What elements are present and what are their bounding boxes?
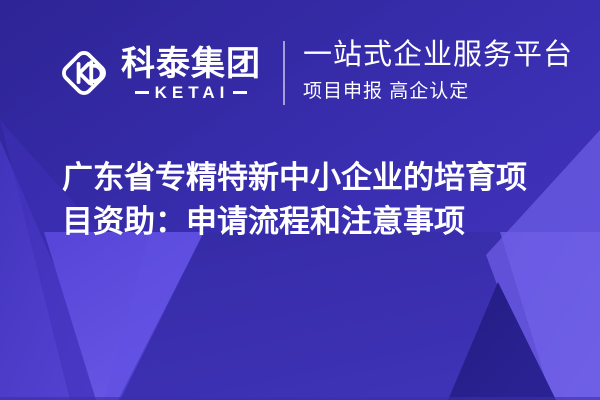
tagline-secondary: 项目申报 高企认定 [303, 80, 573, 104]
headline: 广东省专精特新中小企业的培育项 目资助：申请流程和注意事项 [62, 156, 582, 244]
tagline-primary: 一站式企业服务平台 [303, 36, 573, 74]
tagline-block: 一站式企业服务平台 项目申报 高企认定 [303, 36, 573, 104]
logo-company-name-cn: 科泰集团 [121, 45, 261, 83]
promo-banner: 科泰集团 KETAI 一站式企业服务平台 项目申报 高企认定 广东省专精特新中小… [0, 0, 600, 400]
logo-en-row: KETAI [121, 84, 261, 102]
banner-content: 科泰集团 KETAI 一站式企业服务平台 项目申报 高企认定 广东省专精特新中小… [0, 0, 600, 400]
ketai-diamond-kd-monogram-icon [55, 44, 113, 102]
vertical-divider-icon [283, 41, 285, 105]
logo-wordmark: 科泰集团 KETAI [121, 45, 261, 102]
headline-line-2: 目资助：申请流程和注意事项 [62, 200, 582, 244]
headline-line-1: 广东省专精特新中小企业的培育项 [62, 156, 582, 200]
logo-right-rule-icon [233, 91, 247, 94]
brand-logo[interactable]: 科泰集团 KETAI [55, 38, 261, 108]
logo-company-name-en: KETAI [149, 84, 234, 102]
logo-left-rule-icon [135, 91, 149, 94]
